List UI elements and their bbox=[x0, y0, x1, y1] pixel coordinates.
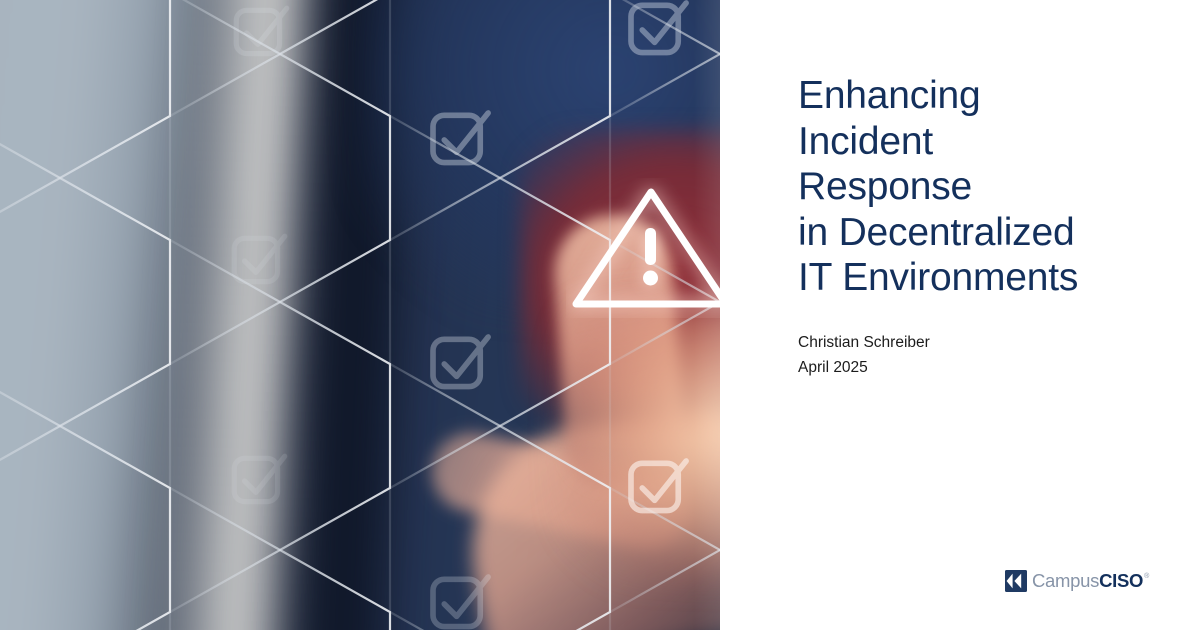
content-panel: Enhancing Incident Response in Decentral… bbox=[720, 0, 1200, 630]
checkbox-check-icon bbox=[226, 228, 292, 294]
hero-image bbox=[0, 0, 720, 630]
logo-wordmark: CampusCISO® bbox=[1032, 570, 1149, 592]
checkbox-check-icon bbox=[424, 104, 496, 176]
byline: Christian Schreiber April 2025 bbox=[798, 330, 1188, 380]
presentation-date: April 2025 bbox=[798, 355, 1188, 380]
campusciso-logo: CampusCISO® bbox=[1005, 570, 1149, 592]
checkbox-check-icon bbox=[424, 568, 496, 630]
logo-word-ciso: CISO bbox=[1099, 570, 1143, 592]
page-title: Enhancing Incident Response in Decentral… bbox=[798, 73, 1188, 301]
logo-trademark-symbol: ® bbox=[1144, 573, 1149, 580]
author-name: Christian Schreiber bbox=[798, 330, 1188, 355]
campusciso-chevron-mark bbox=[1005, 570, 1027, 592]
presentation-title-slide: Enhancing Incident Response in Decentral… bbox=[0, 0, 1200, 630]
checkbox-check-icon bbox=[226, 448, 292, 514]
logo-word-campus: Campus bbox=[1032, 570, 1099, 592]
checkbox-check-icon bbox=[622, 452, 694, 524]
checkbox-check-icon bbox=[622, 0, 694, 66]
checkbox-check-icon bbox=[424, 328, 496, 400]
checkbox-check-icon bbox=[228, 0, 294, 66]
warning-triangle-icon bbox=[566, 178, 720, 318]
